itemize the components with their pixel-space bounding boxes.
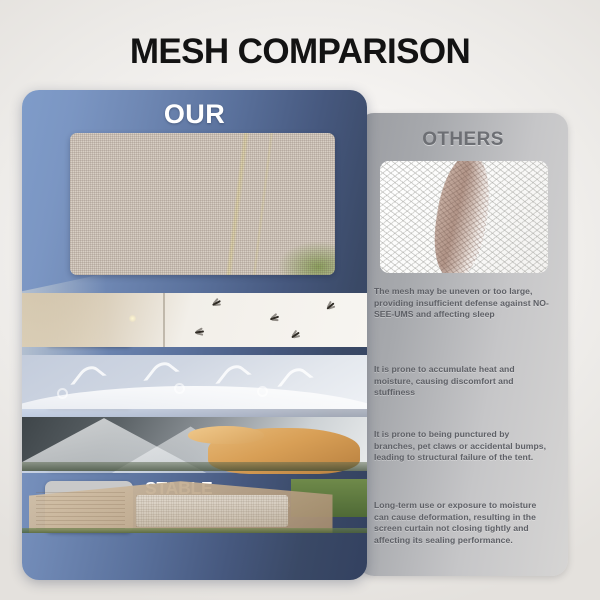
screen-tent-artwork: [45, 481, 133, 533]
our-panel-heading: OUR: [22, 99, 367, 130]
our-feature-item-fine-mesh: FINE MESH The fine mesh ensures effectiv…: [22, 293, 367, 347]
lamp-glow-shape: [129, 315, 133, 322]
mesh-roll-shape: [428, 161, 497, 273]
hand-behind-fine-mesh-photo: [70, 133, 335, 275]
others-drawback-item: It is prone to accumulate heat and moist…: [358, 364, 568, 429]
dog-at-tent-photo: [45, 419, 133, 471]
ground-shape: [45, 462, 133, 471]
infographic-root: MESH COMPARISON OTHERS The mesh may be u…: [0, 0, 600, 600]
others-drawback-text: Long-term use or exposure to moisture ca…: [374, 500, 550, 546]
our-panel: OUR: [22, 90, 367, 580]
tent-side-panel-shape: [45, 491, 125, 529]
others-drawback-item: The mesh may be uneven or too large, pro…: [358, 286, 568, 364]
others-drawback-text: It is prone to accumulate heat and moist…: [374, 364, 550, 399]
others-drawback-item: Long-term use or exposure to moisture ca…: [358, 500, 568, 546]
air-particle-icon: [57, 388, 68, 399]
our-feature-item-breathable: BREATHABLE Achieve optimal air convectio…: [22, 355, 367, 409]
our-feature-item-stable: STABLE Ensure that the tent can maintain…: [22, 479, 367, 533]
airflow-artwork: [45, 357, 133, 409]
dog-tent-artwork: [45, 419, 133, 471]
others-panel: OTHERS The mesh may be uneven or too lar…: [358, 113, 568, 576]
light-beam-shape: [45, 295, 133, 347]
fine-mesh-hand-artwork: [70, 133, 335, 275]
page-title: MESH COMPARISON: [0, 32, 600, 72]
others-drawback-list: The mesh may be uneven or too large, pro…: [358, 286, 568, 546]
coarse-white-mesh-roll-photo: [380, 161, 548, 273]
screen-tent-photo: [45, 481, 133, 533]
mosquitoes-on-wall-photo: [45, 295, 133, 347]
mesh-roll-artwork: [380, 161, 548, 273]
tent-strap-shape: [250, 133, 275, 275]
airflow-arrows-photo: [45, 357, 133, 409]
foliage-shape: [277, 241, 335, 275]
others-drawback-text: It is prone to being punctured by branch…: [374, 429, 550, 464]
tent-strap-shape: [224, 133, 252, 275]
our-feature-item-tear-resistant: TEAR-RESISTANT Wear-resistant and durabl…: [22, 417, 367, 471]
others-panel-heading: OTHERS: [358, 129, 568, 151]
others-drawback-item: It is prone to being punctured by branch…: [358, 429, 568, 500]
others-drawback-text: The mesh may be uneven or too large, pro…: [374, 286, 550, 321]
foreground-grass-shape: [45, 528, 133, 533]
our-feature-list: FINE MESH The fine mesh ensures effectiv…: [22, 293, 367, 541]
mosquito-artwork: [45, 295, 133, 347]
